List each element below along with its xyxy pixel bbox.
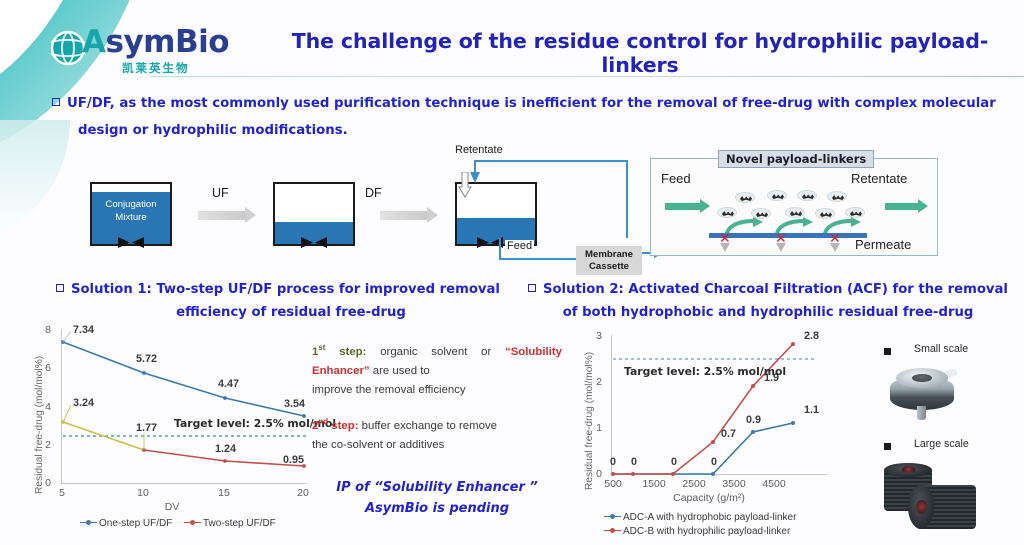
df-arrow (380, 211, 428, 220)
payload-linker-blob (797, 190, 817, 201)
cassette-line1: Membrane (585, 249, 633, 260)
small-scale-block: Small scale (862, 340, 1022, 430)
slide-canvas: AsymBio 凯莱英生物 The challenge of the resid… (0, 0, 1024, 545)
chart2-label: 0.7 (721, 428, 736, 440)
solution2-heading: Solution 2: Activated Charcoal Filtratio… (528, 278, 1008, 324)
chart2-legend-label: ADC-B with hydrophilic payload-linker (623, 526, 790, 537)
capsule-outlet-stem (917, 406, 926, 420)
chart2-legend-label: ADC-A with hydrophobic payload-linker (623, 512, 796, 523)
bullet-square-icon (52, 98, 60, 106)
payload-linker-blob (767, 190, 787, 201)
permeate-down-arrow-icon (776, 243, 786, 252)
chart1-legend-item-two-step: Two-step UF/DF (184, 518, 276, 529)
chart1-ylabel: Residual free-drug (mol/mol%) (34, 356, 45, 494)
npl-permeate-label: Permeate (855, 237, 911, 252)
retentate-label: Retentate (453, 144, 505, 156)
chart2-xtick: 2500 (682, 478, 706, 490)
intro-bullet-line2: design or hydrophilic modifications. (78, 117, 1004, 144)
step1-paragraph: 1st step: organic solvent or “Solubility… (312, 338, 562, 400)
novel-payload-linkers-panel: Feed Retentate ✕ ✕ (650, 158, 938, 256)
step2-label: 2nd step: (312, 420, 359, 432)
chart1-ytick: 2 (40, 439, 56, 451)
permeate-down-arrow-icon (720, 243, 730, 252)
chart2-xtick: 1500 (642, 478, 666, 490)
npl-feed-label: Feed (661, 171, 691, 186)
feed-pipe-down (499, 238, 501, 260)
ufdf-process-diagram: Conjugation Mixture UF DF (80, 142, 640, 272)
step1-text-a: organic solvent or (380, 346, 491, 358)
solution2-line2: of both hydrophobic and hydrophilic resi… (528, 301, 1008, 324)
capsule-center-hole (912, 374, 932, 382)
legend-line-marker-red-icon (604, 530, 621, 531)
drum-side-core (916, 500, 927, 514)
brand-logo-text-rest: symBio (106, 24, 230, 60)
npl-retentate-arrow (885, 203, 919, 210)
step2-text-b: the co-solvent or additives (312, 436, 562, 455)
chart1-legend-label: Two-step UF/DF (203, 518, 276, 529)
chart1-ytick: 8 (40, 324, 56, 336)
vessel2-valve-icon (301, 237, 327, 248)
drum-upright-core (902, 466, 915, 473)
chart1-xtick: 15 (214, 487, 234, 499)
chart1-xtick: 5 (53, 487, 71, 499)
uf-arrow (198, 211, 246, 220)
intro-bullet: UF/DF, as the most commonly used purific… (52, 90, 1004, 144)
chart1-plot (61, 329, 308, 485)
brand-logo-text: AsymBio (82, 24, 229, 60)
chart2-label: 0 (631, 456, 637, 468)
chart-acf: Residual free-drug (mol/mol%) 3 2 1 0 (574, 332, 842, 542)
chart1-label: 0.95 (283, 454, 304, 466)
chart2-label: 0 (610, 456, 616, 468)
payload-linker-blob (735, 192, 755, 203)
large-scale-bullet-icon (884, 443, 891, 450)
retentate-pipe-right (626, 160, 628, 238)
step1-text-c: improve the removal efficiency (312, 381, 562, 400)
chart1-xtick: 20 (293, 487, 313, 499)
df-step-label: DF (365, 186, 382, 200)
membrane-bar (709, 233, 867, 238)
solution2-prefix: Solution 2: (543, 282, 624, 297)
chart2-target-annotation: Target level: 2.5% mol/mol (624, 365, 786, 378)
solution1-heading: Solution 1: Two-step UF/DF process for i… (56, 278, 526, 324)
chart1-label: 1.24 (215, 443, 236, 455)
chart1-label: 4.47 (218, 378, 239, 390)
chart1-label: 3.24 (73, 397, 94, 409)
page-title: The challenge of the residue control for… (270, 29, 1010, 77)
chart1-xtick: 10 (133, 487, 153, 499)
chart2-ytick: 1 (592, 422, 606, 434)
chart2-plot (611, 335, 829, 476)
acf-small-capsule-filter-photo (890, 366, 960, 424)
feed-label: Feed (505, 240, 534, 252)
step1-label: 1st step: (312, 346, 366, 358)
uf-step-label: UF (212, 186, 229, 200)
ip-line1: IP of “Solubility Enhancer ” (336, 480, 538, 495)
step2-sup: nd (318, 417, 328, 426)
ip-statement: IP of “Solubility Enhancer ” AsymBio is … (312, 477, 562, 519)
brand-logo: AsymBio 凯莱英生物 (48, 24, 218, 82)
large-scale-block: Large scale (862, 435, 1022, 540)
chart2-ytick: 2 (592, 376, 606, 388)
intro-bullet-line1: UF/DF, as the most commonly used purific… (67, 96, 996, 111)
chart2-label: 0 (671, 456, 677, 468)
cassette-line2: Cassette (589, 261, 629, 272)
membrane-cassette: Membrane Cassette (576, 246, 642, 275)
legend-line-marker-red-icon (184, 522, 201, 523)
ip-line2: AsymBio is pending (365, 501, 509, 516)
chart1-xlabel: DV (152, 501, 192, 513)
vessel1-label-line2: Mixture (115, 212, 146, 223)
solution1-prefix: Solution 1: (71, 282, 152, 297)
bullet-square-icon (56, 284, 64, 292)
legend-line-marker-blue-icon (604, 516, 621, 517)
step2-label-tail: step: (328, 420, 358, 432)
chart1-label: 3.54 (284, 398, 305, 410)
large-scale-label: Large scale (914, 438, 969, 450)
chart2-xlabel: Capacity (g/m²) (654, 492, 764, 504)
permeate-down-arrow-icon (830, 243, 840, 252)
chart2-xtick: 3500 (722, 478, 746, 490)
chart2-label: 2.8 (804, 330, 819, 342)
retentate-pipe-top (474, 160, 628, 162)
brand-logo-letter-a: A (82, 24, 106, 60)
step2-paragraph: 2nd step: buffer exchange to remove the … (312, 412, 562, 455)
small-scale-bullet-icon (884, 348, 891, 355)
step1-label-tail: step: (325, 346, 366, 358)
acf-large-drum-filter-photo (870, 461, 1010, 537)
novel-payload-linkers-title: Novel payload-linkers (718, 150, 874, 168)
small-scale-label: Small scale (914, 343, 968, 355)
brand-logo-chinese: 凯莱英生物 (122, 60, 190, 76)
chart1-ytick: 4 (40, 401, 56, 413)
chart1-label: 1.77 (136, 422, 157, 434)
two-step-explanation: 1st step: organic solvent or “Solubility… (312, 338, 562, 519)
chart2-label: 0.9 (746, 414, 761, 426)
solution1-line2: efficiency of residual free-drug (56, 301, 526, 324)
npl-feed-arrow (665, 203, 701, 210)
vessel1-label: Conjugation Mixture (92, 198, 170, 224)
vessel1-valve-icon (118, 237, 144, 248)
chart2-legend-item-adc-b: ADC-B with hydrophilic payload-linker (604, 526, 790, 537)
chart2-legend-item-adc-a: ADC-A with hydrophobic payload-linker (604, 512, 796, 523)
payload-linker-blob (827, 191, 847, 202)
chart1-legend-item-one-step: One-step UF/DF (80, 518, 172, 529)
vessel1-label-line1: Conjugation (105, 199, 156, 210)
chart2-label: 0 (711, 456, 717, 468)
solution1-line1: Two-step UF/DF process for improved remo… (156, 282, 500, 297)
chart2-ytick: 3 (592, 330, 606, 342)
chart1-label: 5.72 (136, 353, 157, 365)
bullet-square-icon (528, 284, 536, 292)
step2-text-a: buffer exchange to remove (359, 420, 497, 432)
chart2-xtick: 4500 (762, 478, 786, 490)
solution2-line1: Activated Charcoal Filtration (ACF) for … (628, 282, 1008, 297)
chart1-ytick: 6 (40, 362, 56, 374)
npl-retentate-label: Retentate (851, 171, 907, 186)
step1-text-b: are used to (370, 365, 430, 377)
chart2-label: 1.1 (804, 404, 819, 416)
chart1-legend-label: One-step UF/DF (99, 518, 172, 529)
legend-line-marker-blue-icon (80, 522, 97, 523)
retentate-arrow-icon (469, 172, 481, 184)
chart1-label: 7.34 (73, 324, 94, 336)
chart2-xtick: 500 (602, 478, 624, 490)
chart-ufdf: Residual free-drug (mol/mol%) 8 6 4 2 0 (22, 326, 312, 541)
